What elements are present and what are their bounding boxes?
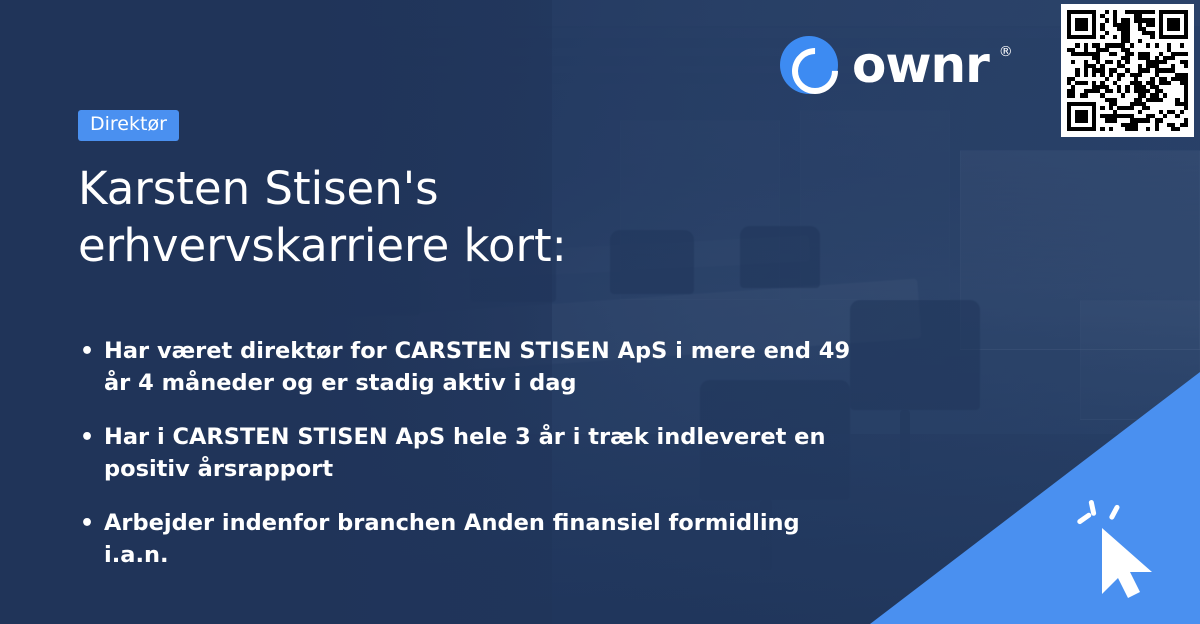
- ownr-logo[interactable]: ownr ®: [780, 36, 1013, 94]
- list-item: Har i CARSTEN STISEN ApS hele 3 år i træ…: [78, 422, 868, 486]
- page-title: Karsten Stisen's erhvervskarriere kort:: [78, 161, 908, 274]
- click-cursor-icon: [1068, 498, 1164, 602]
- ownr-circle-logo-icon: [780, 36, 838, 94]
- list-item: Har været direktør for CARSTEN STISEN Ap…: [78, 336, 868, 400]
- title-line-2: erhvervskarriere kort:: [78, 218, 908, 275]
- list-item: Arbejder indenfor branchen Anden finansi…: [78, 508, 868, 572]
- career-highlights-list: Har været direktør for CARSTEN STISEN Ap…: [78, 336, 908, 572]
- brand-name: ownr: [852, 40, 989, 90]
- career-card: ownr ® Direktør Karsten Stisen's erhverv…: [0, 0, 1200, 624]
- qr-code[interactable]: [1061, 4, 1194, 137]
- registered-mark: ®: [999, 44, 1013, 60]
- role-badge: Direktør: [78, 110, 179, 141]
- content-block: Direktør Karsten Stisen's erhvervskarrie…: [78, 110, 908, 594]
- title-line-1: Karsten Stisen's: [78, 162, 439, 215]
